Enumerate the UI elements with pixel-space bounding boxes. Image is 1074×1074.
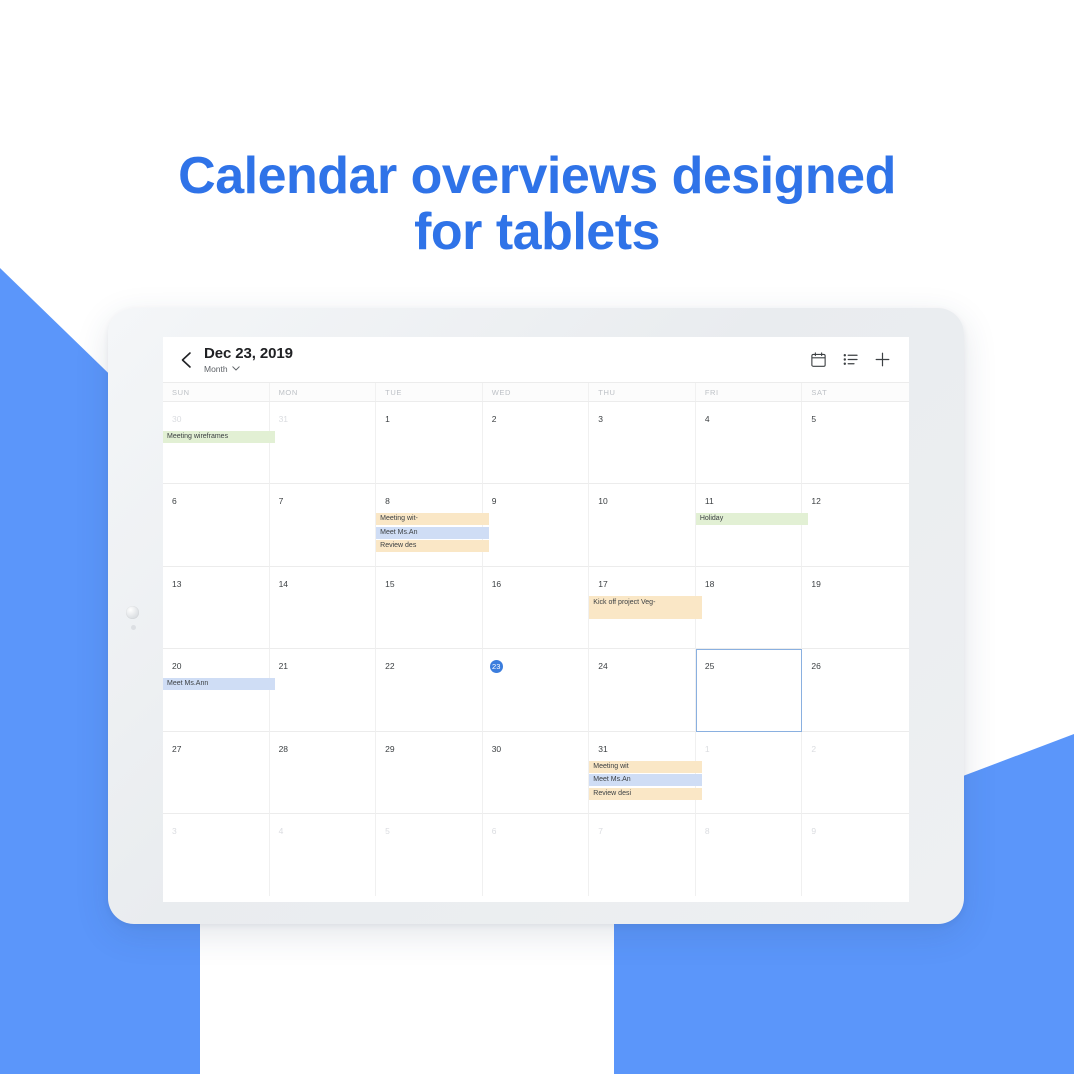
day-number: 2	[811, 743, 816, 756]
day-number: 4	[279, 825, 284, 838]
day-cell[interactable]: 1	[376, 402, 483, 484]
view-switcher[interactable]: Month	[204, 364, 810, 374]
month-grid: 30Meeting wireframes3112345678Meeting wi…	[163, 402, 909, 896]
day-events: Meeting wireframes	[163, 431, 269, 443]
day-cell[interactable]: 4	[270, 814, 377, 896]
day-number: 24	[598, 660, 607, 673]
day-cell[interactable]: 8Meeting wit-Meet Ms.AnReview des	[376, 484, 483, 566]
day-cell[interactable]: 4	[696, 402, 803, 484]
day-number: 25	[705, 660, 714, 673]
weekday-header-row: SUNMONTUEWEDTHUFRISAT	[163, 382, 909, 402]
day-number: 7	[598, 825, 603, 838]
day-number: 4	[705, 413, 710, 426]
calendar-event[interactable]: Holiday	[696, 513, 808, 525]
day-cell[interactable]: 5	[376, 814, 483, 896]
day-cell[interactable]: 26	[802, 649, 909, 731]
calendar-event[interactable]: Meet Ms.An	[589, 774, 701, 786]
weekday-header-fri: FRI	[696, 383, 803, 401]
appbar-actions	[810, 351, 897, 368]
day-number: 9	[811, 825, 816, 838]
day-number: 15	[385, 578, 394, 591]
day-cell[interactable]: 8	[696, 814, 803, 896]
page-headline: Calendar overviews designed for tablets	[0, 148, 1074, 260]
day-cell[interactable]: 28	[270, 732, 377, 814]
calendar-view-icon[interactable]	[810, 351, 827, 368]
day-cell[interactable]: 10	[589, 484, 696, 566]
day-cell[interactable]: 31Meeting witMeet Ms.AnReview desi	[589, 732, 696, 814]
day-number: 14	[279, 578, 288, 591]
day-cell[interactable]: 30	[483, 732, 590, 814]
day-events: Meeting wit-Meet Ms.AnReview des	[376, 513, 482, 552]
day-number: 31	[598, 743, 607, 756]
day-number: 13	[172, 578, 181, 591]
day-cell[interactable]: 7	[270, 484, 377, 566]
day-number: 16	[492, 578, 501, 591]
day-cell[interactable]: 11Holiday	[696, 484, 803, 566]
headline-line-1: Calendar overviews designed	[178, 147, 896, 205]
weekday-header-sat: SAT	[802, 383, 909, 401]
calendar-event[interactable]: Meeting wit	[589, 761, 701, 773]
calendar-event[interactable]: Kick off project Veg-	[589, 596, 701, 619]
back-button[interactable]	[173, 347, 199, 373]
chevron-left-icon	[180, 351, 193, 369]
day-number: 26	[811, 660, 820, 673]
day-number: 7	[279, 495, 284, 508]
tablet-screen: Dec 23, 2019 Month	[163, 337, 909, 902]
day-cell[interactable]: 6	[483, 814, 590, 896]
day-cell[interactable]: 14	[270, 567, 377, 649]
day-number: 27	[172, 743, 181, 756]
day-number: 30	[492, 743, 501, 756]
day-cell[interactable]: 25	[696, 649, 803, 731]
day-events: Kick off project Veg-	[589, 596, 695, 619]
day-number: 12	[811, 495, 820, 508]
day-cell[interactable]: 21	[270, 649, 377, 731]
day-cell[interactable]: 19	[802, 567, 909, 649]
calendar-event[interactable]: Meeting wireframes	[163, 431, 275, 443]
day-number: 29	[385, 743, 394, 756]
day-number: 8	[705, 825, 710, 838]
day-number: 18	[705, 578, 714, 591]
day-number-today: 23	[490, 660, 503, 673]
day-cell[interactable]: 30Meeting wireframes	[163, 402, 270, 484]
calendar-event[interactable]: Review desi	[589, 788, 701, 800]
day-number: 2	[492, 413, 497, 426]
day-number: 3	[598, 413, 603, 426]
day-cell[interactable]: 24	[589, 649, 696, 731]
calendar-event[interactable]: Review des	[376, 540, 488, 552]
day-number: 11	[705, 495, 714, 508]
day-cell[interactable]: 1	[696, 732, 803, 814]
day-number: 1	[385, 413, 390, 426]
weekday-header-tue: TUE	[376, 383, 483, 401]
day-number: 3	[172, 825, 177, 838]
agenda-list-icon[interactable]	[842, 351, 859, 368]
day-cell[interactable]: 18	[696, 567, 803, 649]
add-event-icon[interactable]	[874, 351, 891, 368]
day-cell[interactable]: 6	[163, 484, 270, 566]
calendar-event[interactable]: Meeting wit-	[376, 513, 488, 525]
day-number: 21	[279, 660, 288, 673]
day-number: 8	[385, 495, 390, 508]
page-root: Calendar overviews designed for tablets …	[0, 0, 1074, 1074]
weekday-header-sun: SUN	[163, 383, 270, 401]
day-number: 30	[172, 413, 181, 426]
headline-line-2: for tablets	[0, 204, 1074, 260]
day-number: 31	[279, 413, 288, 426]
calendar-event[interactable]: Meet Ms.An	[376, 527, 488, 539]
calendar-appbar: Dec 23, 2019 Month	[163, 337, 909, 382]
ambient-light-sensor-icon	[131, 625, 136, 630]
day-cell[interactable]: 12	[802, 484, 909, 566]
day-number: 9	[492, 495, 497, 508]
day-number: 19	[811, 578, 820, 591]
day-number: 17	[598, 578, 607, 591]
day-number: 10	[598, 495, 607, 508]
front-camera-icon	[126, 606, 139, 619]
day-number: 22	[385, 660, 394, 673]
day-cell[interactable]: 22	[376, 649, 483, 731]
day-cell[interactable]: 17Kick off project Veg-	[589, 567, 696, 649]
day-cell[interactable]: 23	[483, 649, 590, 731]
day-cell[interactable]: 16	[483, 567, 590, 649]
tablet-device: Dec 23, 2019 Month	[108, 308, 964, 924]
day-cell[interactable]: 15	[376, 567, 483, 649]
day-cell[interactable]: 31	[270, 402, 377, 484]
day-cell[interactable]: 27	[163, 732, 270, 814]
view-switcher-label: Month	[204, 364, 228, 374]
day-cell[interactable]: 2	[802, 732, 909, 814]
day-number: 20	[172, 660, 181, 673]
weekday-header-thu: THU	[589, 383, 696, 401]
title-block: Dec 23, 2019 Month	[204, 345, 810, 373]
day-number: 1	[705, 743, 710, 756]
page-title: Dec 23, 2019	[204, 345, 810, 362]
day-cell[interactable]: 5	[802, 402, 909, 484]
day-cell[interactable]: 3	[163, 814, 270, 896]
calendar-event[interactable]: Meet Ms.Ann	[163, 678, 275, 690]
day-number: 28	[279, 743, 288, 756]
chevron-down-icon	[232, 366, 240, 371]
day-events: Meeting witMeet Ms.AnReview desi	[589, 761, 695, 800]
weekday-header-wed: WED	[483, 383, 590, 401]
day-cell[interactable]: 9	[483, 484, 590, 566]
day-cell[interactable]: 20Meet Ms.Ann	[163, 649, 270, 731]
day-cell[interactable]: 7	[589, 814, 696, 896]
day-cell[interactable]: 9	[802, 814, 909, 896]
day-events: Holiday	[696, 513, 802, 525]
day-number: 5	[811, 413, 816, 426]
day-number: 6	[492, 825, 497, 838]
day-events: Meet Ms.Ann	[163, 678, 269, 690]
day-cell[interactable]: 29	[376, 732, 483, 814]
day-cell[interactable]: 2	[483, 402, 590, 484]
day-number: 5	[385, 825, 390, 838]
day-cell[interactable]: 13	[163, 567, 270, 649]
weekday-header-mon: MON	[270, 383, 377, 401]
day-cell[interactable]: 3	[589, 402, 696, 484]
day-number: 6	[172, 495, 177, 508]
